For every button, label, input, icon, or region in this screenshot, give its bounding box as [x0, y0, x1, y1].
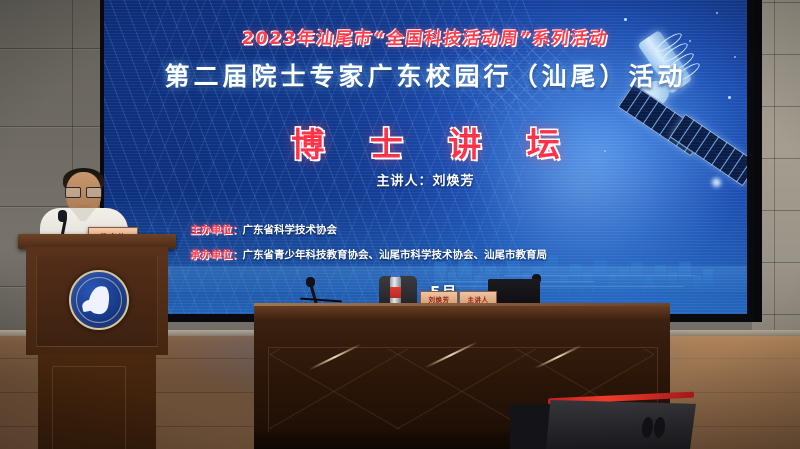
school-emblem-icon [69, 270, 129, 330]
table-microphone-left-head [306, 277, 315, 287]
podium-base-inset [52, 366, 126, 449]
water-bottle-label [390, 287, 401, 298]
stage-monitor-body [546, 400, 696, 449]
eyeglasses-icon [65, 187, 102, 196]
podium: 黄宏伟 [22, 234, 172, 449]
screenshot-root: 2023年汕尾市“全国科技活动周”系列活动 第二届院士专家广东校园行（汕尾）活动… [0, 0, 800, 449]
led-screen: 2023年汕尾市“全国科技活动周”系列活动 第二届院士专家广东校园行（汕尾）活动… [104, 0, 747, 314]
led-pixel-scanlines [104, 0, 747, 314]
water-bottle-cap [391, 272, 400, 277]
stage-monitor-speaker [546, 395, 696, 449]
